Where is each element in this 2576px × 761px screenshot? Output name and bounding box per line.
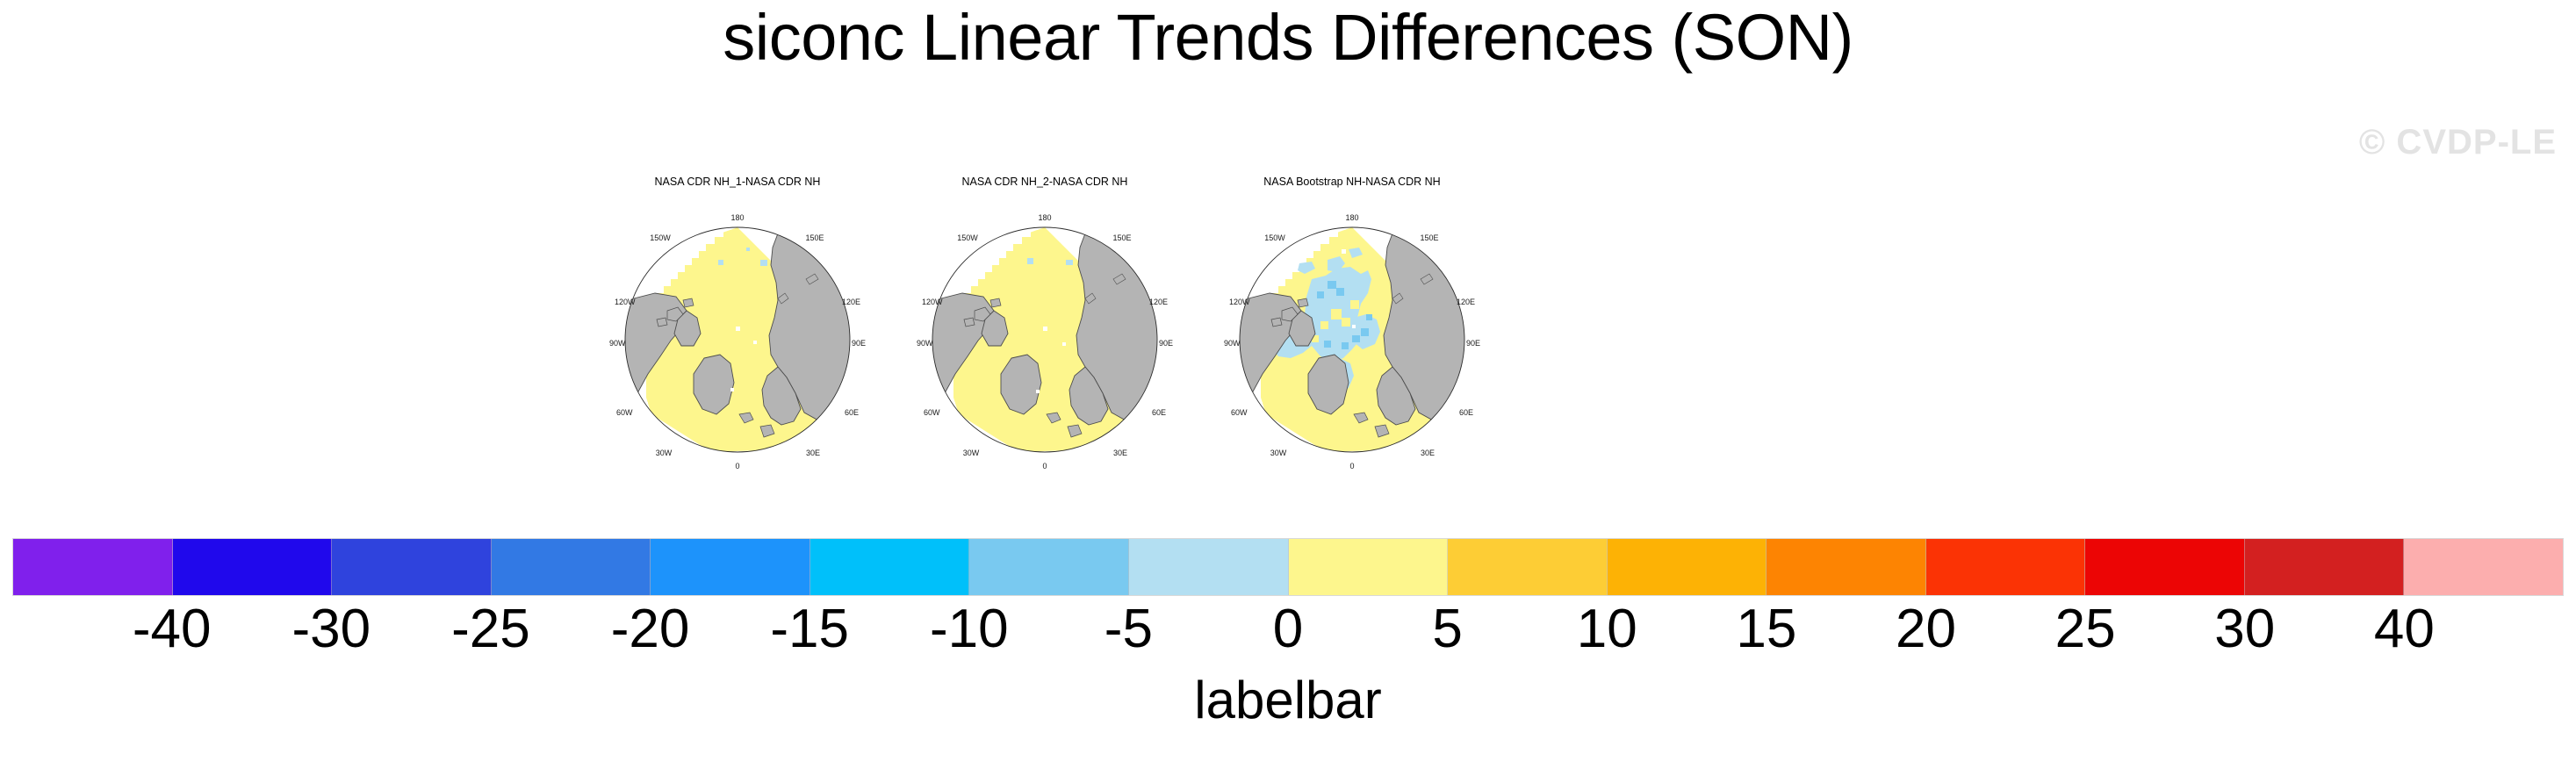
colorbar-segment-15 [2404,539,2563,595]
lon-label-120e: 120E [842,298,860,306]
lon-label-60e: 60E [845,408,859,417]
colorbar-segment-3 [492,539,651,595]
colorbar-strip[interactable] [12,538,2564,596]
lon-label-150e: 150E [1420,233,1438,242]
lon-label-60w: 60W [924,408,940,417]
colorbar-tick--20: -20 [611,602,690,657]
lon-label-120e: 120E [1457,298,1475,306]
lon-label-30e: 30E [806,449,820,457]
lon-label-150e: 150E [805,233,824,242]
lon-label-30e: 30E [1421,449,1435,457]
lon-label-180: 180 [730,213,744,222]
map-panel-1-title: NASA CDR NH_1-NASA CDR NH [601,176,874,188]
map-panel-1[interactable]: NASA CDR NH_1-NASA CDR NH [601,176,874,478]
lon-label-150w: 150W [650,233,671,242]
colorbar-tick--40: -40 [133,602,212,657]
colorbar-tick-5: 5 [1432,602,1462,657]
lon-label-0: 0 [1349,462,1354,470]
colorbar-segment-10 [1608,539,1767,595]
colorbar-segment-5 [810,539,970,595]
lon-label-180: 180 [1345,213,1358,222]
map-panel-3-title: NASA Bootstrap NH-NASA CDR NH [1216,176,1488,188]
lon-label-30e: 30E [1113,449,1127,457]
lon-label-120w: 120W [615,298,636,306]
map-panel-3[interactable]: NASA Bootstrap NH-NASA CDR NH [1216,176,1488,478]
lon-label-0: 0 [735,462,739,470]
colorbar-tick-30: 30 [2214,602,2275,657]
lon-label-120e: 120E [1149,298,1168,306]
lon-label-150w: 150W [957,233,978,242]
colorbar-segment-12 [1926,539,2086,595]
lon-label-60e: 60E [1459,408,1473,417]
map-panel-1-plot[interactable]: 180 150W 120W 90W 60W 30W 0 30E 60E 90E … [606,195,869,474]
lon-label-120w: 120W [1229,298,1250,306]
copyright-watermark: © CVDP-LE [2359,123,2557,162]
lon-label-30w: 30W [963,449,980,457]
colorbar-tick-labels: -40-30-25-20-15-10-505101520253040 [12,602,2564,672]
lon-label-90e: 90E [1466,339,1480,348]
colorbar-segment-4 [651,539,810,595]
lon-label-30w: 30W [656,449,673,457]
colorbar-caption: labelbar [0,674,2576,727]
colorbar-segment-2 [332,539,492,595]
map-panel-row: NASA CDR NH_1-NASA CDR NH [601,176,1488,478]
colorbar-segment-8 [1289,539,1449,595]
map-panel-2-plot[interactable]: 180 150W 120W 90W 60W 30W 0 30E 60E 90E … [913,195,1176,474]
colorbar-tick-25: 25 [2055,602,2116,657]
colorbar-tick--30: -30 [291,602,371,657]
colorbar-tick--10: -10 [930,602,1009,657]
map-panel-3-plot[interactable]: 180 150W 120W 90W 60W 30W 0 30E 60E 90E … [1220,195,1484,474]
colorbar-segment-9 [1448,539,1608,595]
lon-label-90w: 90W [609,339,626,348]
lon-label-90e: 90E [852,339,866,348]
lon-label-180: 180 [1038,213,1051,222]
colorbar-segment-14 [2245,539,2405,595]
map-panel-2-title: NASA CDR NH_2-NASA CDR NH [909,176,1181,188]
colorbar-segment-0 [13,539,173,595]
colorbar [12,538,2564,596]
lon-label-60w: 60W [616,408,633,417]
lon-label-0: 0 [1042,462,1047,470]
lon-label-30w: 30W [1270,449,1287,457]
lon-label-90e: 90E [1159,339,1173,348]
lon-label-150w: 150W [1264,233,1285,242]
lon-label-60w: 60W [1231,408,1248,417]
map-panel-2[interactable]: NASA CDR NH_2-NASA CDR NH [909,176,1181,478]
colorbar-segment-1 [173,539,333,595]
lon-label-90w: 90W [917,339,933,348]
colorbar-segment-6 [969,539,1129,595]
colorbar-tick-15: 15 [1736,602,1796,657]
colorbar-tick-40: 40 [2374,602,2435,657]
lon-label-120w: 120W [922,298,943,306]
lon-label-150e: 150E [1112,233,1131,242]
page-title: siconc Linear Trends Differences (SON) [0,5,2576,70]
colorbar-tick-0: 0 [1273,602,1303,657]
colorbar-tick-20: 20 [1896,602,1956,657]
colorbar-segment-13 [2085,539,2245,595]
colorbar-segment-11 [1767,539,1926,595]
lon-label-90w: 90W [1224,339,1241,348]
lon-label-60e: 60E [1152,408,1166,417]
colorbar-segment-7 [1129,539,1289,595]
colorbar-tick--5: -5 [1105,602,1153,657]
colorbar-tick-10: 10 [1577,602,1637,657]
colorbar-tick--15: -15 [770,602,849,657]
colorbar-tick--25: -25 [451,602,530,657]
